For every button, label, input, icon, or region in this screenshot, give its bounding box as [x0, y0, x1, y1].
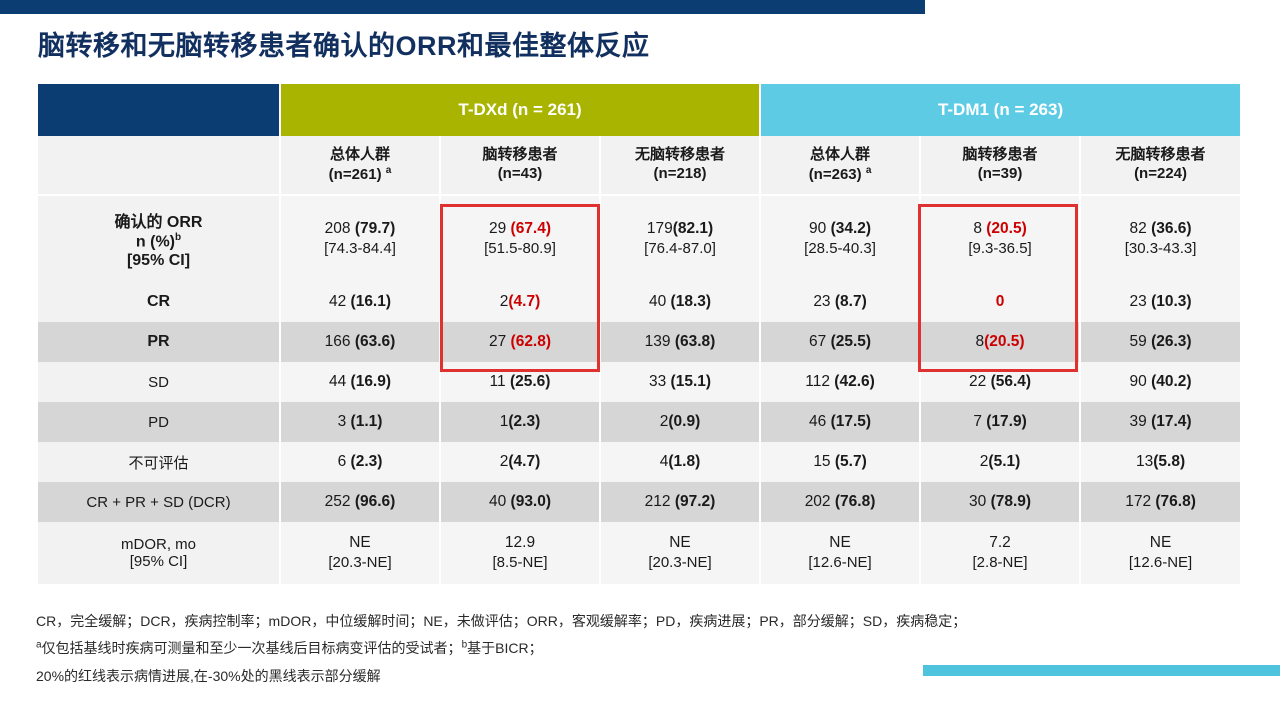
cell-percent: (67.4) [511, 220, 552, 237]
cell-percent: (40.2) [1151, 373, 1192, 390]
footnote-superscripts: a仅包括基线时疾病可测量和至少一次基线后目标病变评估的受试者；b基于BICR； [36, 635, 1236, 662]
table-cell: 12.9[8.5-NE] [440, 522, 600, 584]
column-header-line2: (n=39) [921, 165, 1079, 184]
cell-percent: (82.1) [673, 220, 714, 237]
row-label-line: 不可评估 [38, 452, 279, 473]
results-table-container: T-DXd (n = 261) T-DM1 (n = 263) 总体人群 (n=… [38, 84, 1240, 584]
cell-count: 46 [809, 413, 831, 430]
cell-percent: (18.3) [671, 293, 712, 310]
cell-count: 40 [649, 293, 671, 310]
column-header-line1: 无脑转移患者 [601, 146, 759, 165]
table-row: 确认的 ORRn (%)b[95% CI]208 (79.7)[74.3-84.… [38, 195, 1240, 282]
cell-percent: (17.9) [986, 413, 1027, 430]
table-cell: 46 (17.5) [760, 402, 920, 442]
cell-percent: (1.8) [668, 453, 700, 470]
row-label-line: n (%)b [38, 232, 279, 251]
cell-count: 39 [1130, 413, 1152, 430]
table-cell: NE[12.6-NE] [1080, 522, 1240, 584]
cell-percent: (25.5) [831, 333, 872, 350]
cell-percent: (0.9) [668, 413, 700, 430]
cell-count: 22 [969, 373, 991, 390]
table-cell: 212 (97.2) [600, 482, 760, 522]
table-row: SD44 (16.9)11 (25.6)33 (15.1)112 (42.6)2… [38, 362, 1240, 402]
column-header-blank [38, 136, 280, 195]
cell-percent: (15.1) [671, 373, 712, 390]
column-header-line2: (n=43) [441, 165, 599, 184]
table-cell: 90 (40.2) [1080, 362, 1240, 402]
row-label: PD [38, 402, 280, 442]
cell-percent: (17.5) [831, 413, 872, 430]
row-label: mDOR, mo[95% CI] [38, 522, 280, 584]
row-label-line: PD [38, 414, 279, 431]
cell-count: 15 [813, 453, 835, 470]
column-header-tdm1-nobm: 无脑转移患者 (n=224) [1080, 136, 1240, 195]
table-cell: 208 (79.7)[74.3-84.4] [280, 195, 440, 282]
cell-count: 7.2 [989, 534, 1011, 551]
column-header-line2: (n=224) [1081, 165, 1240, 184]
row-label: PR [38, 322, 280, 362]
table-cell: 15 (5.7) [760, 442, 920, 482]
column-header-line1: 无脑转移患者 [1081, 146, 1240, 165]
table-cell: 1(2.3) [440, 402, 600, 442]
cell-percent: (5.8) [1153, 453, 1185, 470]
table-cell: 179(82.1)[76.4-87.0] [600, 195, 760, 282]
cell-count: 202 [805, 493, 835, 510]
table-cell: 2(5.1) [920, 442, 1080, 482]
cell-count: 166 [325, 333, 355, 350]
cell-percent: (16.9) [351, 373, 392, 390]
table-cell: 2(4.7) [440, 442, 600, 482]
table-cell: 90 (34.2)[28.5-40.3] [760, 195, 920, 282]
row-label-line: [95% CI] [38, 553, 279, 570]
table-cell: 39 (17.4) [1080, 402, 1240, 442]
table-cell: 252 (96.6) [280, 482, 440, 522]
cell-count: NE [829, 534, 851, 551]
table-cell: 4(1.8) [600, 442, 760, 482]
table-row: CR42 (16.1)2(4.7)40 (18.3)23 (8.7)023 (1… [38, 282, 1240, 322]
cell-percent: (93.0) [511, 493, 552, 510]
column-header-tdm1-bm: 脑转移患者 (n=39) [920, 136, 1080, 195]
column-header-line1: 脑转移患者 [921, 146, 1079, 165]
table-cell: 7 (17.9) [920, 402, 1080, 442]
table-cell: 202 (76.8) [760, 482, 920, 522]
cell-percent: (20.5) [984, 333, 1025, 350]
results-table: T-DXd (n = 261) T-DM1 (n = 263) 总体人群 (n=… [38, 84, 1240, 584]
table-cell: 67 (25.5) [760, 322, 920, 362]
cell-confidence-interval: [2.8-NE] [921, 553, 1079, 573]
column-header-line1: 总体人群 [281, 146, 439, 165]
table-cell: 23 (10.3) [1080, 282, 1240, 322]
table-cell: 172 (76.8) [1080, 482, 1240, 522]
row-label-line: CR [38, 293, 279, 311]
table-cell: 30 (78.9) [920, 482, 1080, 522]
cell-percent: (97.2) [675, 493, 716, 510]
group-header-blank [38, 84, 280, 136]
table-cell: 112 (42.6) [760, 362, 920, 402]
table-row: 不可评估6 (2.3)2(4.7)4(1.8)15 (5.7)2(5.1)13(… [38, 442, 1240, 482]
cell-confidence-interval: [12.6-NE] [761, 553, 919, 573]
cell-percent: (63.8) [675, 333, 716, 350]
table-cell: 27 (62.8) [440, 322, 600, 362]
row-label-line: PR [38, 333, 279, 351]
cell-percent: (76.8) [835, 493, 876, 510]
table-cell: 11 (25.6) [440, 362, 600, 402]
table-cell: 13(5.8) [1080, 442, 1240, 482]
cell-count: 23 [813, 293, 835, 310]
cell-count: 212 [645, 493, 675, 510]
table-cell: 8(20.5) [920, 322, 1080, 362]
cell-count: 90 [1130, 373, 1152, 390]
footnote-abbreviations: CR，完全缓解；DCR，疾病控制率；mDOR，中位缓解时间；NE，未做评估；OR… [36, 608, 1236, 635]
cell-confidence-interval: [9.3-36.5] [921, 239, 1079, 259]
cell-confidence-interval: [8.5-NE] [441, 553, 599, 573]
cell-percent: (5.7) [835, 453, 867, 470]
cell-count: 33 [649, 373, 671, 390]
cell-percent: (62.8) [511, 333, 552, 350]
column-header-tdm1-overall: 总体人群 (n=263) a [760, 136, 920, 195]
table-row: mDOR, mo[95% CI]NE[20.3-NE]12.9[8.5-NE]N… [38, 522, 1240, 584]
cell-count: 8 [973, 220, 986, 237]
cell-count: 30 [969, 493, 991, 510]
cell-percent: (78.9) [991, 493, 1032, 510]
row-label: SD [38, 362, 280, 402]
cell-percent: (34.2) [831, 220, 872, 237]
cell-count: 12.9 [505, 534, 535, 551]
cell-count: 40 [489, 493, 511, 510]
table-head: T-DXd (n = 261) T-DM1 (n = 263) 总体人群 (n=… [38, 84, 1240, 195]
cell-confidence-interval: [28.5-40.3] [761, 239, 919, 259]
table-cell: 139 (63.8) [600, 322, 760, 362]
cell-count: 208 [325, 220, 355, 237]
table-row: CR + PR + SD (DCR)252 (96.6)40 (93.0)212… [38, 482, 1240, 522]
table-cell: 166 (63.6) [280, 322, 440, 362]
cell-confidence-interval: [20.3-NE] [601, 553, 759, 573]
cell-count: 6 [338, 453, 351, 470]
table-cell: 44 (16.9) [280, 362, 440, 402]
row-label-line: SD [38, 374, 279, 391]
table-cell: 0 [920, 282, 1080, 322]
column-header-tdxd-bm: 脑转移患者 (n=43) [440, 136, 600, 195]
cell-count: 23 [1130, 293, 1152, 310]
cell-count: 139 [645, 333, 675, 350]
cell-count: 42 [329, 293, 351, 310]
table-cell: NE[20.3-NE] [280, 522, 440, 584]
cell-count: 27 [489, 333, 511, 350]
cell-count: 29 [489, 220, 511, 237]
table-cell: 42 (16.1) [280, 282, 440, 322]
cell-percent: (63.6) [355, 333, 396, 350]
cell-count: 44 [329, 373, 351, 390]
cell-count: NE [669, 534, 691, 551]
cell-count: 179 [647, 220, 673, 237]
row-label-line: 确认的 ORR [38, 208, 279, 232]
cell-count: 3 [338, 413, 351, 430]
table-cell: 23 (8.7) [760, 282, 920, 322]
table-row: PD3 (1.1)1(2.3)2(0.9)46 (17.5)7 (17.9)39… [38, 402, 1240, 442]
column-header-line1: 脑转移患者 [441, 146, 599, 165]
footnote-marker: a [386, 165, 392, 176]
cell-percent: (2.3) [351, 453, 383, 470]
table-cell: 2(4.7) [440, 282, 600, 322]
cell-confidence-interval: [74.3-84.4] [281, 239, 439, 259]
table-body: 确认的 ORRn (%)b[95% CI]208 (79.7)[74.3-84.… [38, 195, 1240, 584]
cell-percent: (26.3) [1151, 333, 1192, 350]
table-cell: 40 (93.0) [440, 482, 600, 522]
cell-count: NE [349, 534, 371, 551]
cell-percent: (79.7) [355, 220, 396, 237]
cell-confidence-interval: [12.6-NE] [1081, 553, 1240, 573]
table-cell: 7.2[2.8-NE] [920, 522, 1080, 584]
cell-count: 82 [1130, 220, 1152, 237]
footnotes: CR，完全缓解；DCR，疾病控制率；mDOR，中位缓解时间；NE，未做评估；OR… [36, 608, 1236, 690]
cell-percent: (5.1) [988, 453, 1020, 470]
row-label: CR [38, 282, 280, 322]
cell-percent: (2.3) [508, 413, 540, 430]
cell-percent: (25.6) [510, 373, 551, 390]
group-header-tdm1: T-DM1 (n = 263) [760, 84, 1240, 136]
row-label: CR + PR + SD (DCR) [38, 482, 280, 522]
cell-percent: (42.6) [834, 373, 875, 390]
column-header-line2: (n=218) [601, 165, 759, 184]
table-cell: 82 (36.6)[30.3-43.3] [1080, 195, 1240, 282]
cell-count: 252 [325, 493, 355, 510]
cell-count: NE [1150, 534, 1172, 551]
cell-confidence-interval: [51.5-80.9] [441, 239, 599, 259]
row-label: 不可评估 [38, 442, 280, 482]
cell-count: 7 [973, 413, 986, 430]
table-cell: 6 (2.3) [280, 442, 440, 482]
cell-count: 112 [805, 373, 834, 390]
cell-confidence-interval: [76.4-87.0] [601, 239, 759, 259]
cell-percent: (16.1) [351, 293, 392, 310]
cell-percent: (8.7) [835, 293, 867, 310]
cell-percent: (56.4) [991, 373, 1032, 390]
cell-percent: (20.5) [986, 220, 1027, 237]
cell-percent: (10.3) [1151, 293, 1192, 310]
row-label-line: [95% CI] [38, 252, 279, 270]
cell-count: 59 [1130, 333, 1152, 350]
column-header-tdxd-nobm: 无脑转移患者 (n=218) [600, 136, 760, 195]
column-header-tdxd-overall: 总体人群 (n=261) a [280, 136, 440, 195]
table-cell: 59 (26.3) [1080, 322, 1240, 362]
cell-percent: (76.8) [1155, 493, 1196, 510]
group-header-row: T-DXd (n = 261) T-DM1 (n = 263) [38, 84, 1240, 136]
footnote-marker: a [866, 165, 872, 176]
table-cell: 2(0.9) [600, 402, 760, 442]
cell-count: 11 [490, 373, 510, 390]
cell-percent: (96.6) [355, 493, 396, 510]
table-row: PR166 (63.6)27 (62.8)139 (63.8)67 (25.5)… [38, 322, 1240, 362]
cell-count: 13 [1136, 453, 1153, 470]
cell-percent: (4.7) [508, 453, 540, 470]
table-cell: 3 (1.1) [280, 402, 440, 442]
cell-confidence-interval: [20.3-NE] [281, 553, 439, 573]
group-header-tdxd: T-DXd (n = 261) [280, 84, 760, 136]
table-cell: NE[12.6-NE] [760, 522, 920, 584]
cell-confidence-interval: [30.3-43.3] [1081, 239, 1240, 259]
cell-percent: (36.6) [1151, 220, 1192, 237]
cell-count: 172 [1125, 493, 1155, 510]
column-header-row: 总体人群 (n=261) a 脑转移患者 (n=43) 无脑转移患者 (n=21… [38, 136, 1240, 195]
cell-percent: (17.4) [1151, 413, 1192, 430]
row-label-line: mDOR, mo [38, 536, 279, 553]
row-label: 确认的 ORRn (%)b[95% CI] [38, 195, 280, 282]
column-header-line2: (n=261) a [281, 165, 439, 185]
cell-percent: 0 [996, 293, 1005, 310]
table-cell: NE[20.3-NE] [600, 522, 760, 584]
page-title: 脑转移和无脑转移患者确认的ORR和最佳整体反应 [38, 24, 1138, 63]
cell-count: 67 [809, 333, 831, 350]
cell-percent: (1.1) [351, 413, 383, 430]
top-accent-bar [0, 0, 925, 14]
row-label-line: CR + PR + SD (DCR) [38, 494, 279, 511]
column-header-line2: (n=263) a [761, 165, 919, 185]
table-cell: 40 (18.3) [600, 282, 760, 322]
cell-percent: (4.7) [508, 293, 540, 310]
bottom-accent-bar [923, 665, 1280, 676]
cell-count: 8 [975, 333, 984, 350]
column-header-line1: 总体人群 [761, 146, 919, 165]
table-cell: 29 (67.4)[51.5-80.9] [440, 195, 600, 282]
table-cell: 8 (20.5)[9.3-36.5] [920, 195, 1080, 282]
table-cell: 22 (56.4) [920, 362, 1080, 402]
table-cell: 33 (15.1) [600, 362, 760, 402]
cell-count: 90 [809, 220, 831, 237]
